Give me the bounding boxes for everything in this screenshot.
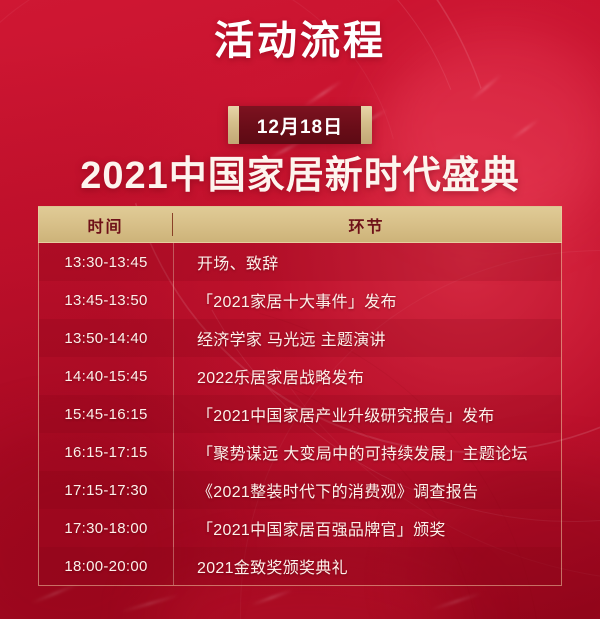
row-item: 「2021中国家居百强品牌官」颁奖 [173,509,561,547]
badge-bar-right-icon [361,106,372,144]
row-item: 《2021整装时代下的消费观》调查报告 [173,471,561,509]
row-item: 2022乐居家居战略发布 [173,357,561,395]
row-time: 18:00-20:00 [39,547,173,585]
row-time: 15:45-16:15 [39,395,173,433]
row-time: 13:45-13:50 [39,281,173,319]
column-header-item: 环节 [172,207,561,242]
column-header-time: 时间 [39,207,172,242]
header-column-divider [172,213,173,236]
row-time: 17:30-18:00 [39,509,173,547]
row-item: 开场、致辞 [173,243,561,281]
table-row: 16:15-17:15「聚势谋远 大变局中的可持续发展」主题论坛 [39,433,561,471]
row-item: 2021金致奖颁奖典礼 [173,547,561,585]
event-subtitle: 2021中国家居新时代盛典 [0,152,600,200]
schedule-table: 时间 环节 13:30-13:45开场、致辞13:45-13:50「2021家居… [38,206,562,586]
table-row: 18:00-20:002021金致奖颁奖典礼 [39,547,561,585]
row-item: 「2021中国家居产业升级研究报告」发布 [173,395,561,433]
row-item: 「2021家居十大事件」发布 [173,281,561,319]
date-badge-label: 12月18日 [239,106,361,144]
row-time: 14:40-15:45 [39,357,173,395]
row-time: 13:30-13:45 [39,243,173,281]
table-row: 17:15-17:30《2021整装时代下的消费观》调查报告 [39,471,561,509]
row-time: 17:15-17:30 [39,471,173,509]
table-row: 13:45-13:50「2021家居十大事件」发布 [39,281,561,319]
table-row: 13:50-14:40经济学家 马光远 主题演讲 [39,319,561,357]
page-title: 活动流程 [0,16,600,66]
row-time: 16:15-17:15 [39,433,173,471]
table-row: 17:30-18:00「2021中国家居百强品牌官」颁奖 [39,509,561,547]
schedule-table-body: 13:30-13:45开场、致辞13:45-13:50「2021家居十大事件」发… [39,243,561,585]
table-row: 13:30-13:45开场、致辞 [39,243,561,281]
table-row: 14:40-15:452022乐居家居战略发布 [39,357,561,395]
row-time: 13:50-14:40 [39,319,173,357]
event-schedule-poster: 活动流程 12月18日 2021中国家居新时代盛典 时间 环节 13:30-13… [0,0,600,619]
row-item: 「聚势谋远 大变局中的可持续发展」主题论坛 [173,433,561,471]
date-badge: 12月18日 [228,106,372,144]
schedule-table-header: 时间 环节 [38,206,562,243]
table-row: 15:45-16:15「2021中国家居产业升级研究报告」发布 [39,395,561,433]
badge-bar-left-icon [228,106,239,144]
row-item: 经济学家 马光远 主题演讲 [173,319,561,357]
